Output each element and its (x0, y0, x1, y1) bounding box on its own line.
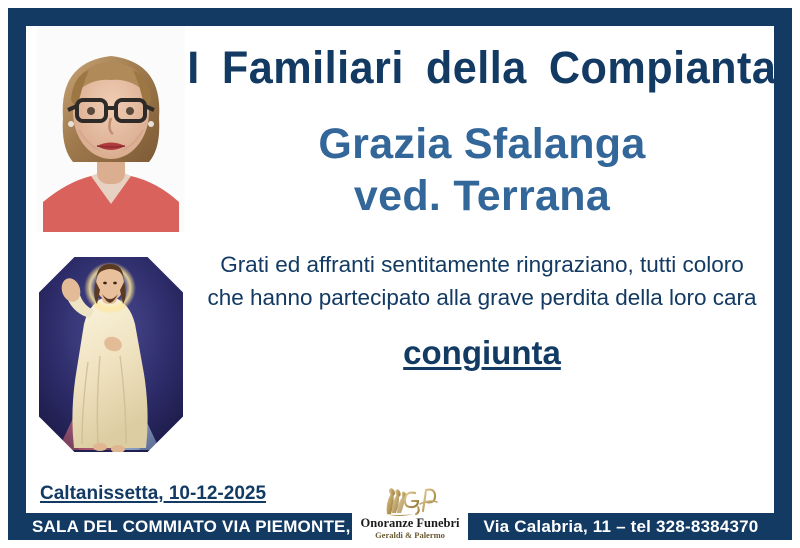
frame-border-left (8, 8, 26, 540)
place-and-date: Caltanissetta, 10-12-2025 (40, 483, 266, 505)
thanks-message: Grati ed affranti sentitamente ringrazia… (207, 249, 756, 314)
deceased-name: Grazia Sfalanga ved. Terrana (318, 118, 645, 223)
wreath-monogram-icon (379, 483, 441, 517)
logo-company-subtitle: Geraldi & Palermo (375, 530, 445, 540)
portrait-photo (37, 26, 185, 232)
thanks-message-line1: Grati ed affranti sentitamente ringrazia… (207, 249, 756, 282)
funeral-home-logo: Onoranze Funebri Geraldi & Palermo (354, 478, 466, 540)
frame-border-top (8, 8, 792, 26)
divine-mercy-holy-image (34, 252, 188, 457)
logo-company-name: Onoranze Funebri (361, 517, 460, 530)
venue-address-bar: SALA DEL COMMIATO VIA PIEMONTE, 16 (26, 513, 352, 540)
deceased-name-line2: ved. Terrana (318, 170, 645, 222)
venue-address-text: SALA DEL COMMIATO VIA PIEMONTE, 16 (32, 517, 375, 537)
contact-bar: Via Calabria, 11 – tel 328-8384370 (468, 513, 774, 540)
thanks-message-line2: che hanno partecipato alla grave perdita… (207, 282, 756, 315)
page-title: I Familiari della Compianta (187, 42, 776, 94)
funeral-notice-poster: I Familiari della Compianta Grazia Sfala… (0, 0, 800, 548)
contact-text: Via Calabria, 11 – tel 328-8384370 (484, 517, 759, 537)
notice-content: I Familiari della Compianta Grazia Sfala… (190, 26, 774, 513)
deceased-name-line1: Grazia Sfalanga (318, 118, 645, 170)
relationship-keyword: congiunta (403, 334, 561, 372)
